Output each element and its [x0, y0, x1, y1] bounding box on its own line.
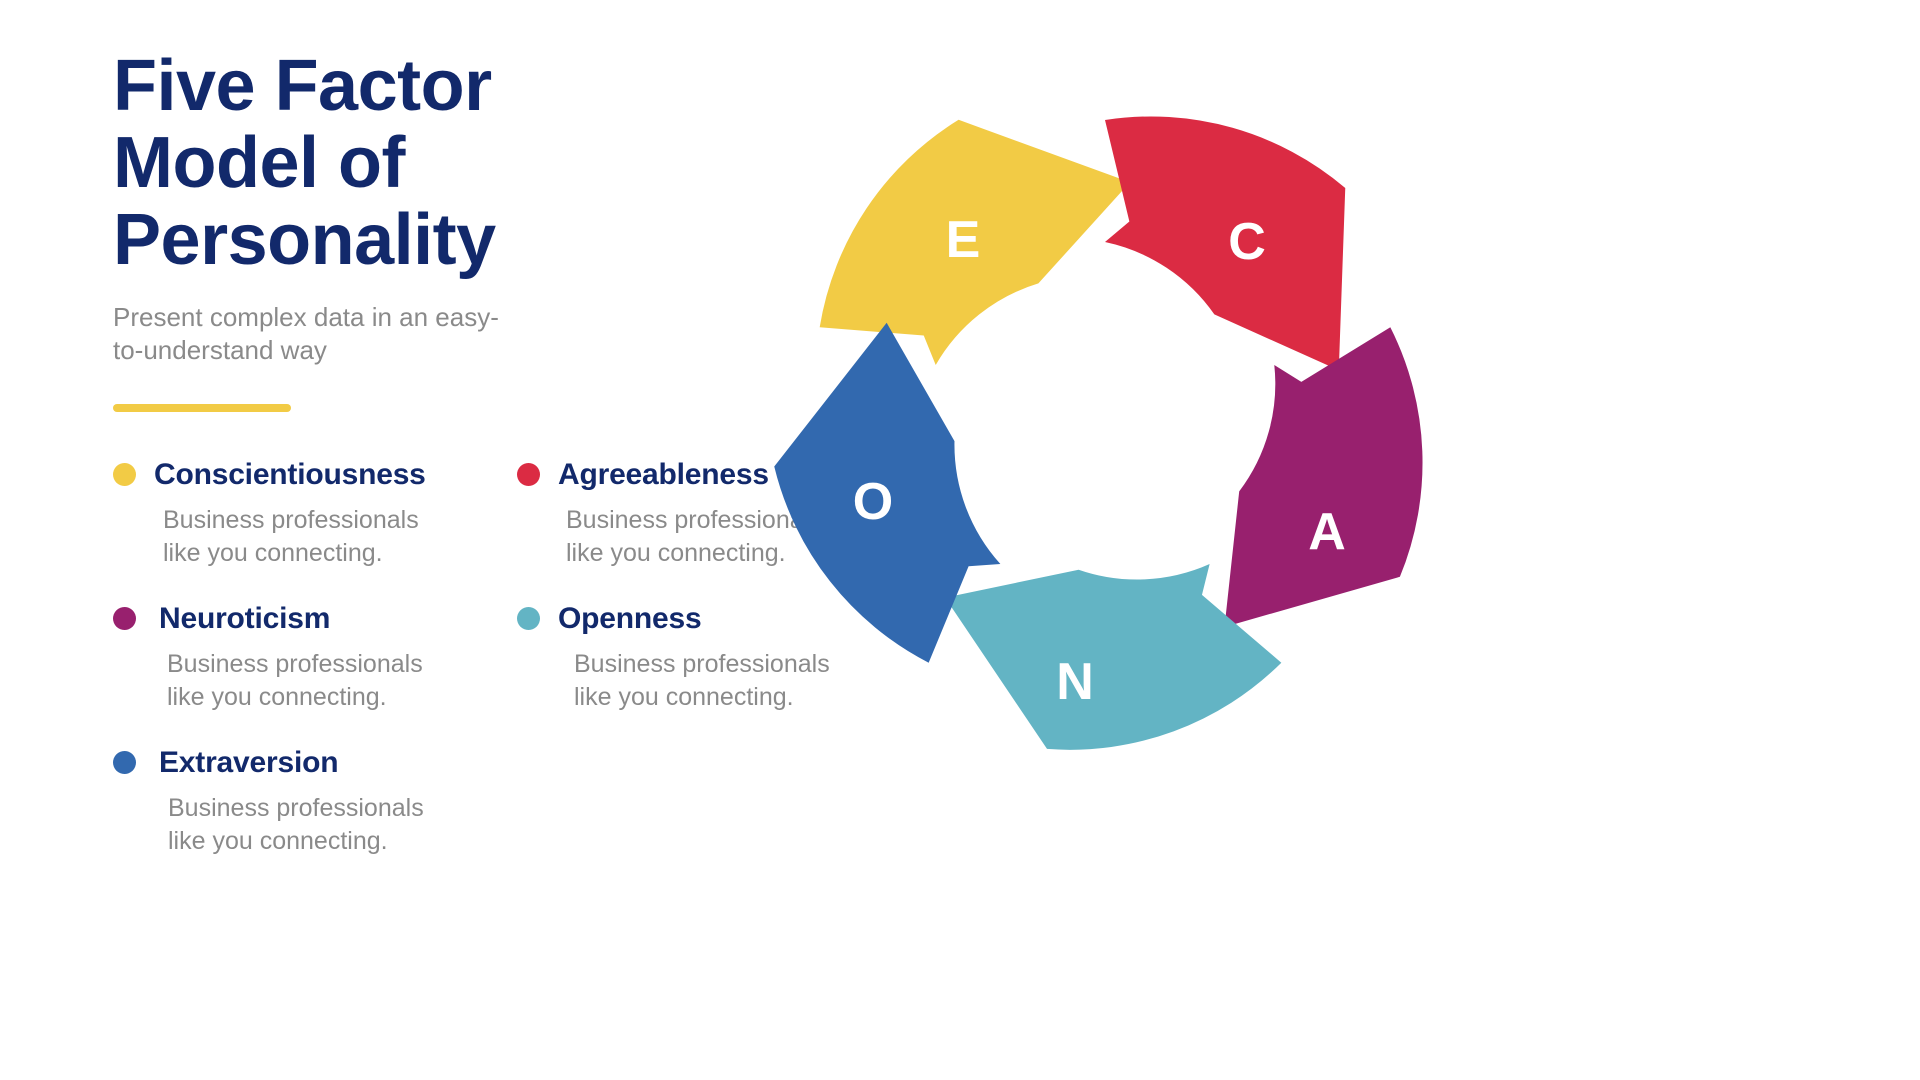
bullet-dot-icon: [517, 607, 540, 630]
legend-item-conscientiousness[interactable]: Conscientiousness Business professionals…: [113, 458, 517, 570]
legend-item-label: Agreeableness: [558, 458, 769, 492]
legend-item-neuroticism[interactable]: Neuroticism Business professionals like …: [113, 602, 517, 714]
legend-item-description: Business professionals like you connecti…: [168, 792, 468, 858]
legend-item-description: Business professionals like you connecti…: [163, 504, 463, 570]
legend-item-description: Business professionals like you connecti…: [167, 648, 467, 714]
cycle-segment-group: [774, 116, 1422, 749]
page-title: Five Factor Model of Personality: [113, 48, 583, 279]
bullet-dot-icon: [113, 607, 136, 630]
bullet-dot-icon: [517, 463, 540, 486]
legend-head: Conscientiousness: [113, 458, 517, 492]
cycle-segment-agreeableness[interactable]: [1105, 116, 1345, 370]
bullet-dot-icon: [113, 751, 136, 774]
cycle-letter-a: A: [1308, 503, 1346, 561]
legend-item-label: Extraversion: [159, 746, 338, 780]
legend-head: Extraversion: [113, 746, 517, 780]
legend-item-extraversion[interactable]: Extraversion Business professionals like…: [113, 746, 517, 858]
cycle-letter-c: C: [1228, 213, 1266, 271]
cycle-letter-n: N: [1056, 653, 1094, 711]
legend-head: Neuroticism: [113, 602, 517, 636]
cycle-svg: CANOE: [755, 70, 1455, 770]
circular-cycle-diagram: CANOE: [755, 70, 1455, 770]
legend-item-label: Conscientiousness: [154, 458, 426, 492]
page-subtitle: Present complex data in an easy- to-unde…: [113, 301, 593, 368]
cycle-letter-o: O: [853, 473, 893, 531]
legend-item-label: Openness: [558, 602, 701, 636]
bullet-dot-icon: [113, 463, 136, 486]
legend-item-label: Neuroticism: [159, 602, 330, 636]
divider-rule: [113, 404, 291, 412]
cycle-segment-neuroticism[interactable]: [1225, 327, 1423, 627]
cycle-letter-e: E: [946, 211, 981, 269]
